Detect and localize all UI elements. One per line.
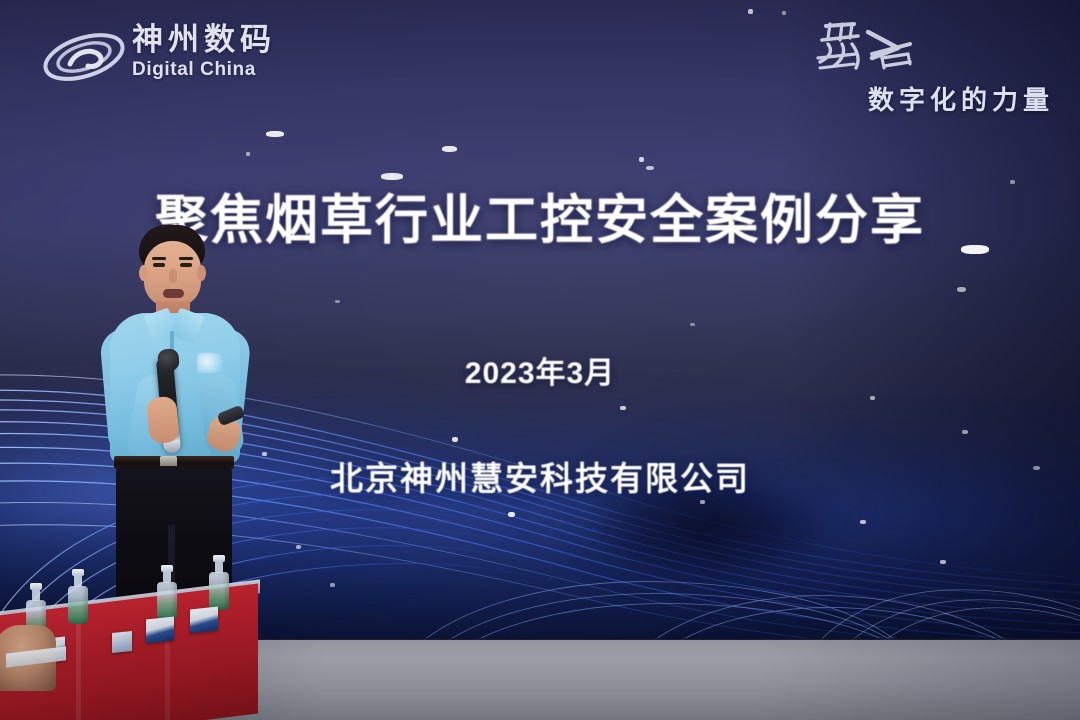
name-card [190,607,218,634]
speaker-brow-left [152,257,166,260]
swirl-galaxy-logo-icon [40,24,128,90]
speaker-hand-left [146,396,181,445]
speaker-brow-right [179,257,193,260]
digital-china-logo: 神州数码 Digital China [40,20,310,96]
name-card [146,617,174,644]
event-subtitle: 数字化的力量 [868,80,1054,117]
speaker-nose [169,269,177,283]
speaker-ear-left [139,265,148,281]
speaker-shirt-badge [197,353,222,373]
speaker-eye-right [180,263,192,267]
brand-name-cn: 神州数码 [132,22,276,58]
speaker-mouth [163,289,184,298]
water-bottle [157,582,177,620]
digital-china-wordmark: 神州数码 Digital China [132,22,276,82]
table-cloth-fold [76,618,81,720]
speaker-eye-left [153,263,165,267]
speaker-ear-right [197,265,206,281]
water-bottle [209,572,229,610]
stage-photo: 神州数码 Digital China [0,0,1080,720]
event-logo: 数字化的力量 [810,18,1060,114]
brand-name-en: Digital China [132,58,276,82]
water-bottle [68,586,88,624]
microphone-head-icon [157,348,180,372]
event-brush-calligraphy [812,18,932,80]
name-card [112,631,132,653]
